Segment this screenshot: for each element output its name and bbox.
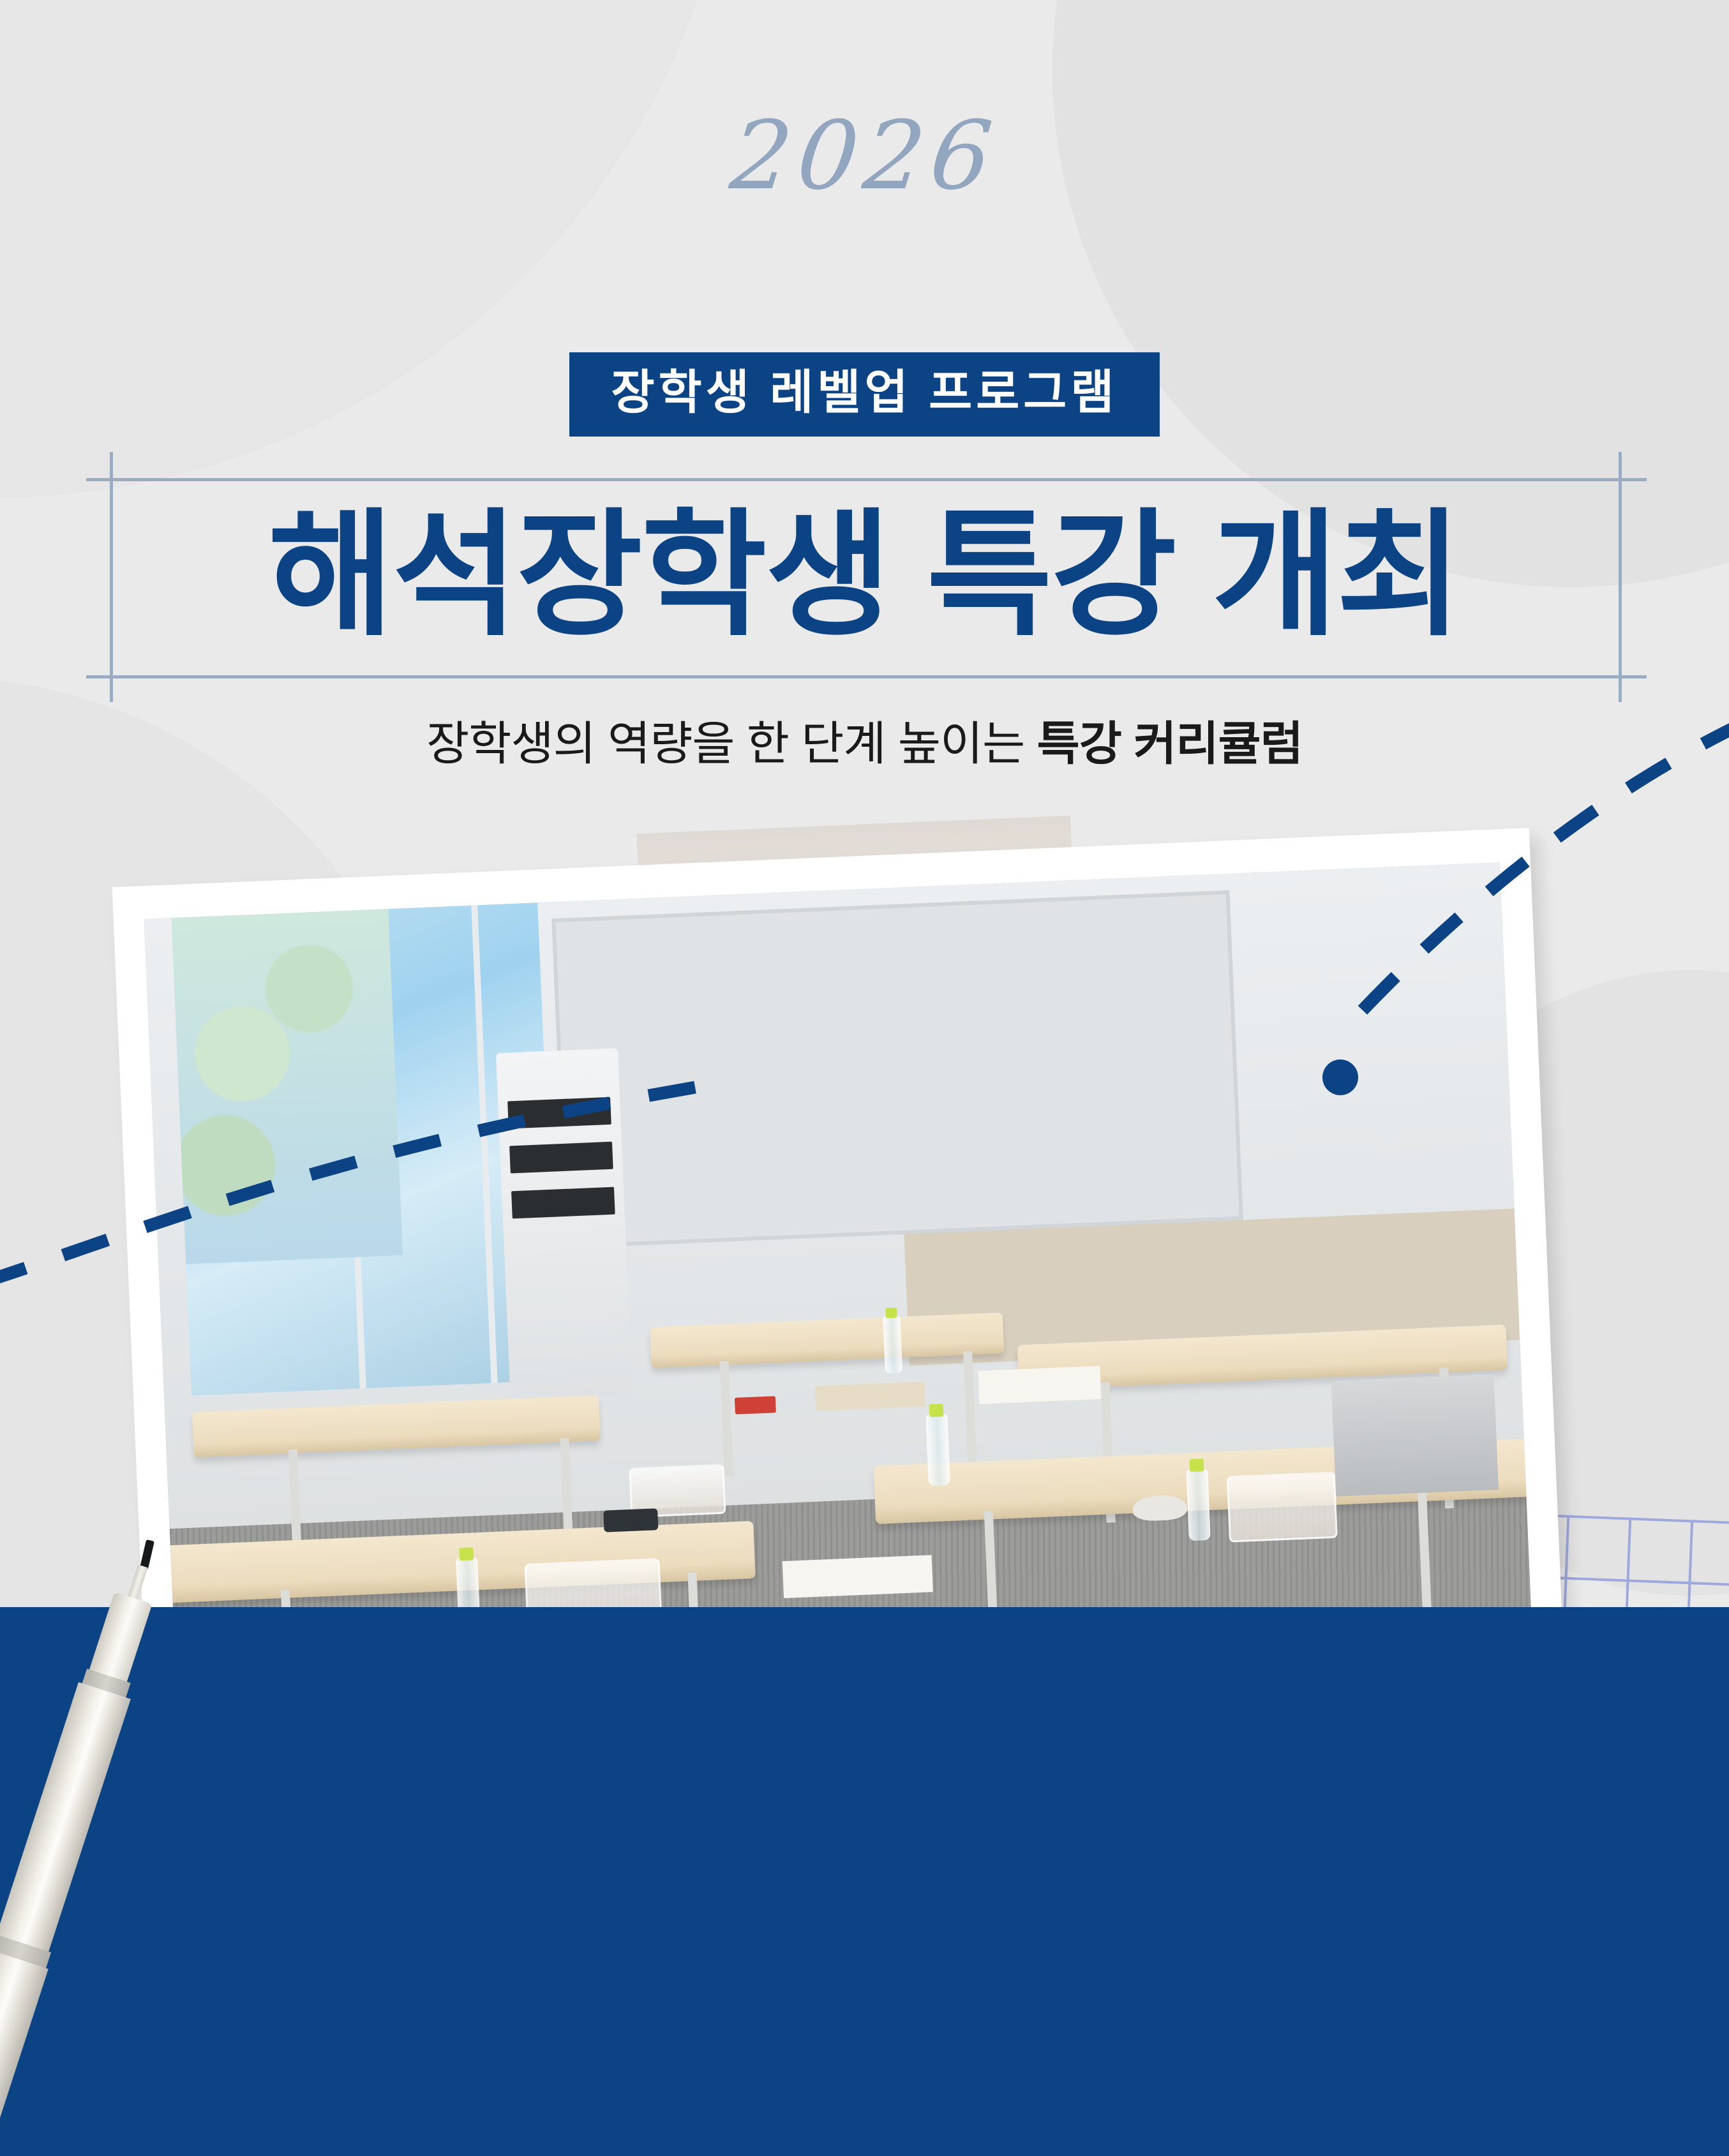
year-label: 2026: [0, 101, 1729, 211]
photo-phone: [603, 1508, 658, 1532]
photo-trees-outside: [171, 909, 403, 1264]
photo-pencil-case: [1227, 1472, 1338, 1542]
page-subtitle: 장학생의 역량을 한 단계 높이는 특강 커리큘럼: [0, 706, 1729, 774]
blue-bottom-band: [0, 1607, 1729, 2156]
photo-paper: [978, 1366, 1101, 1404]
blue-dot-decor: [1322, 1059, 1358, 1095]
page-title: 해석장학생 특강 개최: [0, 480, 1729, 671]
photo-red-bag: [735, 1396, 776, 1414]
photo-whiteboard: [551, 890, 1243, 1248]
photo-laptop: [1331, 1374, 1499, 1496]
title-frame-rule-bottom: [86, 675, 1647, 678]
photo-water-bottle: [925, 1414, 950, 1486]
subtitle-emphasis: 특강 커리큘럼: [1037, 718, 1303, 770]
torn-paper-edge-icon: [0, 1602, 1729, 1717]
program-badge: 장학생 레벨업 프로그램: [569, 352, 1160, 437]
poster-root: 2026 장학생 레벨업 프로그램 해석장학생 특강 개최 장학생의 역량을 한…: [0, 0, 1729, 2156]
subtitle-plain: 장학생의 역량을 한 단계 높이는: [426, 718, 1037, 770]
photo-paper: [782, 1555, 932, 1598]
photo-notebook: [816, 1382, 925, 1411]
photo-water-bottle: [883, 1315, 902, 1374]
photo-air-conditioner: [496, 1048, 632, 1399]
photo-water-bottle: [1186, 1469, 1211, 1541]
